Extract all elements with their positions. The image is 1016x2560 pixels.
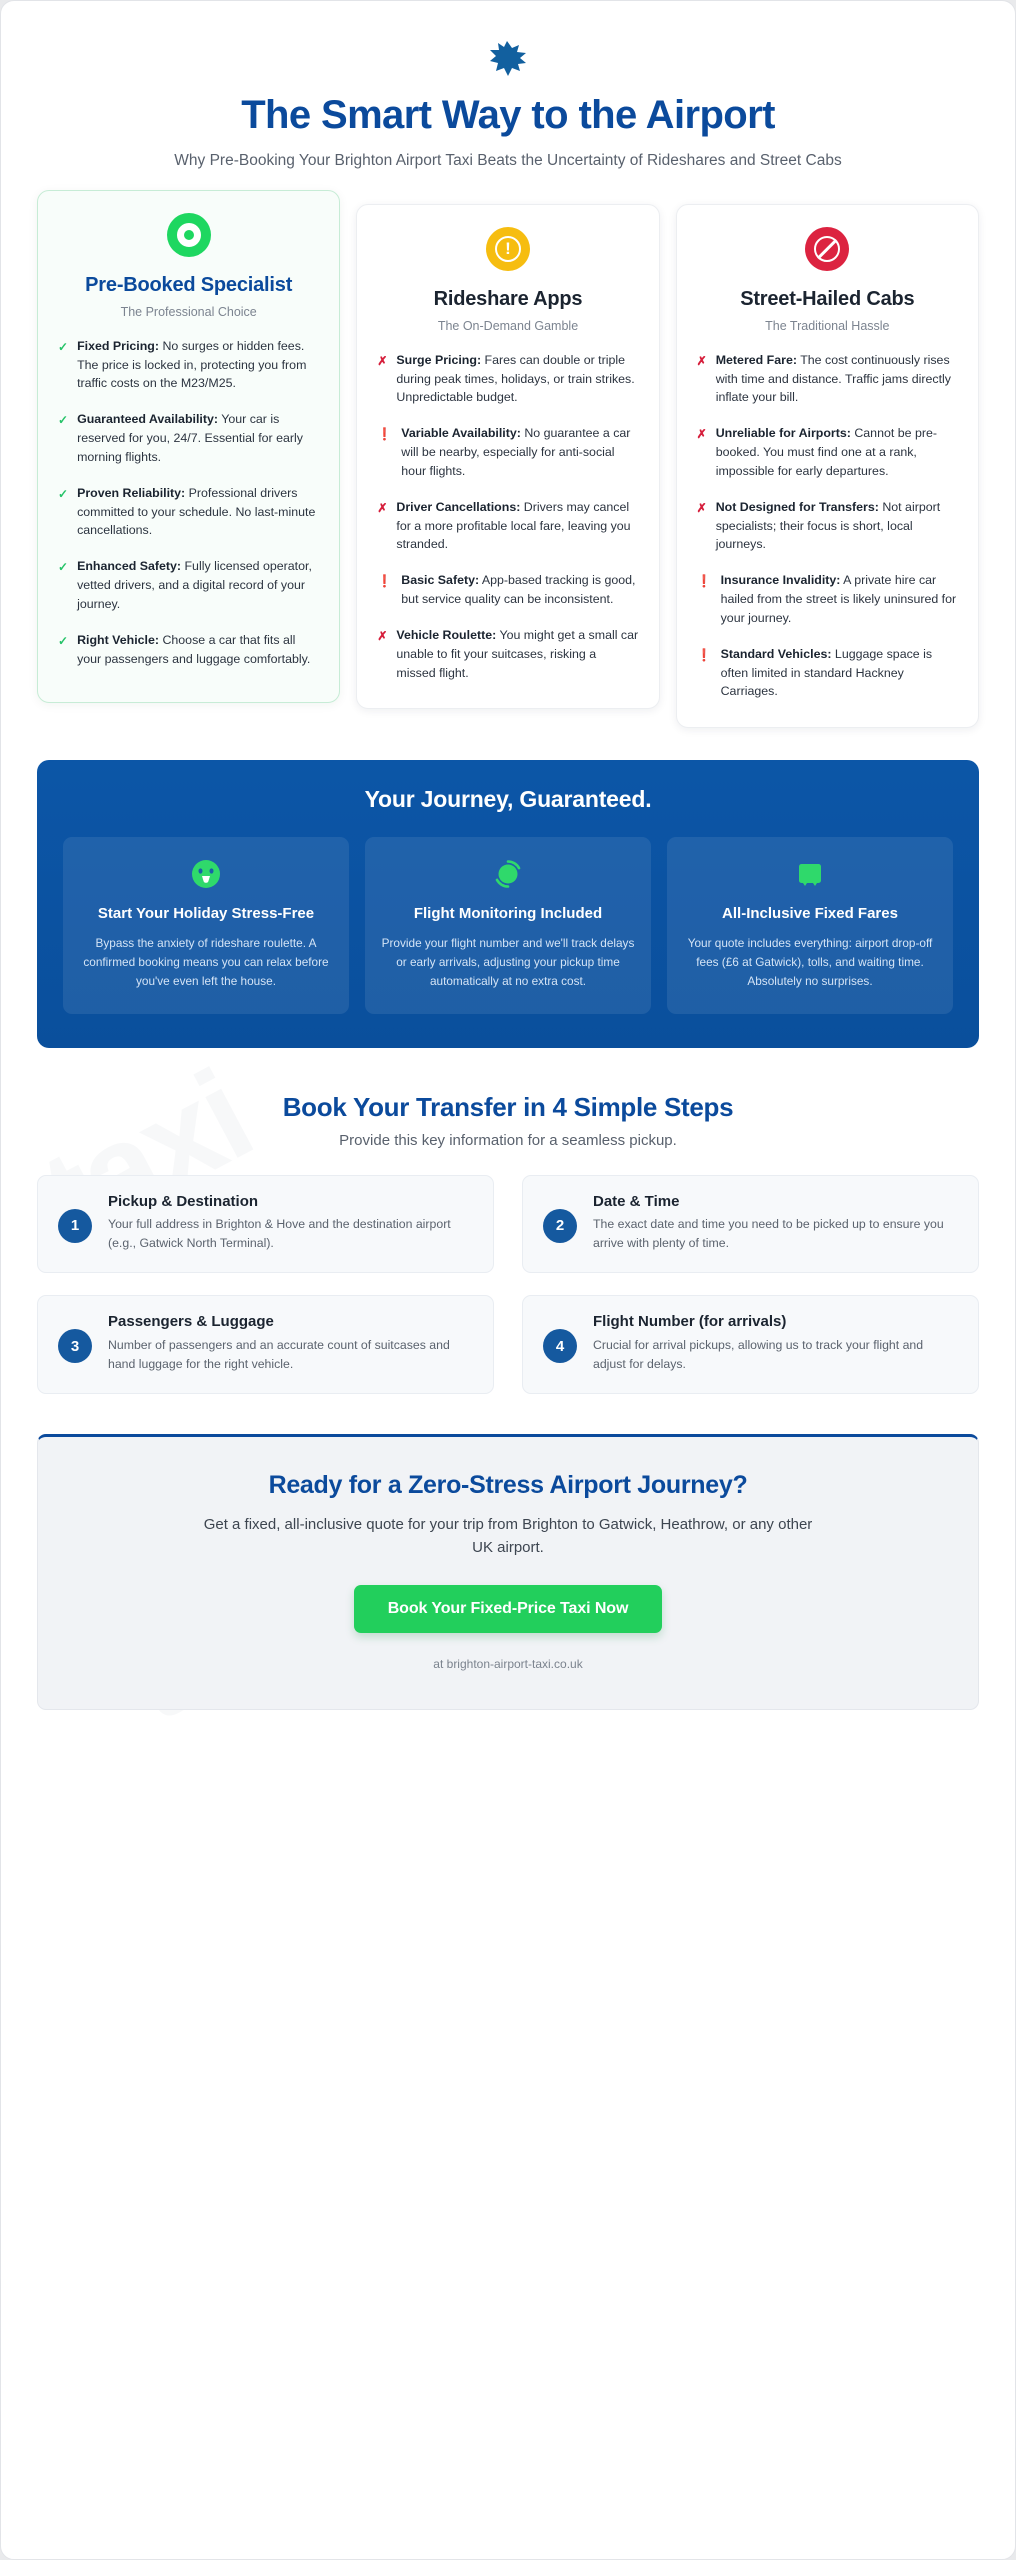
card-title: Pre-Booked Specialist — [58, 273, 319, 297]
cta-lead: Get a fixed, all-inclusive quote for you… — [198, 1514, 818, 1559]
warning-icon: ❗ — [377, 424, 392, 481]
step-title: Flight Number (for arrivals) — [593, 1313, 958, 1332]
guarantee-card-body: Your quote includes everything: airport … — [683, 934, 937, 991]
step-number-badge: 3 — [58, 1329, 92, 1363]
guarantee-card-fixed-fares: All-Inclusive Fixed Fares Your quote inc… — [667, 837, 953, 1013]
list-item: ✗Unreliable for Airports: Cannot be pre-… — [697, 424, 958, 481]
point-label: Basic Safety: — [401, 573, 479, 587]
list-item: ✗Metered Fare: The cost continuously ris… — [697, 351, 958, 408]
cross-icon: ✗ — [377, 626, 387, 683]
step-card-3: 3 Passengers & Luggage Number of passeng… — [37, 1295, 494, 1394]
cross-icon: ✗ — [697, 498, 707, 555]
list-item: ❗Standard Vehicles: Luggage space is oft… — [697, 645, 958, 702]
point-list: ✓Fixed Pricing: No surges or hidden fees… — [58, 337, 319, 669]
point-label: Variable Availability: — [401, 426, 521, 440]
cta-panel: Ready for a Zero-Stress Airport Journey?… — [37, 1434, 979, 1710]
list-item: ✓Guaranteed Availability: Your car is re… — [58, 410, 319, 467]
step-title: Passengers & Luggage — [108, 1313, 473, 1332]
wallet-icon — [683, 857, 937, 891]
point-label: Proven Reliability: — [77, 486, 185, 500]
point-label: Right Vehicle: — [77, 633, 159, 647]
step-number-badge: 4 — [543, 1329, 577, 1363]
guarantee-card-body: Bypass the anxiety of rideshare roulette… — [79, 934, 333, 991]
point-label: Driver Cancellations: — [396, 500, 520, 514]
steps-subheading: Provide this key information for a seaml… — [37, 1132, 979, 1149]
list-item: ✗Driver Cancellations: Drivers may cance… — [377, 498, 638, 555]
sync-refresh-icon — [381, 857, 635, 891]
point-label: Insurance Invalidity: — [721, 573, 841, 587]
point-label: Surge Pricing: — [396, 353, 481, 367]
step-body: Your full address in Brighton & Hove and… — [108, 1215, 473, 1253]
warning-icon: ❗ — [377, 571, 392, 609]
guarantee-card-title: All-Inclusive Fixed Fares — [683, 905, 937, 924]
red-no-entry-icon — [805, 227, 849, 271]
step-number-badge: 1 — [58, 1209, 92, 1243]
cross-icon: ✗ — [697, 351, 707, 408]
step-number-badge: 2 — [543, 1209, 577, 1243]
check-icon: ✓ — [58, 410, 68, 467]
guarantee-card-stress-free: Start Your Holiday Stress-Free Bypass th… — [63, 837, 349, 1013]
cta-heading: Ready for a Zero-Stress Airport Journey? — [68, 1471, 948, 1500]
point-label: Fixed Pricing: — [77, 339, 159, 353]
point-label: Not Designed for Transfers: — [716, 500, 879, 514]
comparison-card-rideshare: ! Rideshare Apps The On-Demand Gamble ✗S… — [356, 204, 659, 709]
page-title: The Smart Way to the Airport — [37, 93, 979, 138]
point-label: Enhanced Safety: — [77, 559, 181, 573]
smiley-face-icon — [79, 857, 333, 891]
list-item: ❗Insurance Invalidity: A private hire ca… — [697, 571, 958, 628]
guarantee-heading: Your Journey, Guaranteed. — [63, 786, 953, 813]
card-title: Street-Hailed Cabs — [697, 287, 958, 311]
list-item: ❗Basic Safety: App-based tracking is goo… — [377, 571, 638, 609]
guarantee-card-body: Provide your flight number and we'll tra… — [381, 934, 635, 991]
step-card-4: 4 Flight Number (for arrivals) Crucial f… — [522, 1295, 979, 1394]
comparison-card-prebooked: Pre-Booked Specialist The Professional C… — [37, 190, 340, 703]
step-body: Number of passengers and an accurate cou… — [108, 1336, 473, 1374]
point-label: Metered Fare: — [716, 353, 797, 367]
comparison-grid: Pre-Booked Specialist The Professional C… — [37, 204, 979, 728]
comparison-card-street-hailed: Street-Hailed Cabs The Traditional Hassl… — [676, 204, 979, 728]
check-icon: ✓ — [58, 631, 68, 669]
guarantee-card-flight-monitoring: Flight Monitoring Included Provide your … — [365, 837, 651, 1013]
yellow-exclamation-icon: ! — [486, 227, 530, 271]
step-title: Date & Time — [593, 1193, 958, 1212]
guarantee-card-grid: Start Your Holiday Stress-Free Bypass th… — [63, 837, 953, 1013]
list-item: ✓Right Vehicle: Choose a car that fits a… — [58, 631, 319, 669]
list-item: ✗Vehicle Roulette: You might get a small… — [377, 626, 638, 683]
point-label: Unreliable for Airports: — [716, 426, 851, 440]
card-tagline: The Professional Choice — [58, 305, 319, 319]
cross-icon: ✗ — [697, 424, 707, 481]
step-body: Crucial for arrival pickups, allowing us… — [593, 1336, 958, 1374]
card-tagline: The Traditional Hassle — [697, 319, 958, 333]
hero-header: The Smart Way to the Airport Why Pre-Boo… — [37, 31, 979, 178]
cross-icon: ✗ — [377, 498, 387, 555]
airplane-mark-icon — [486, 39, 530, 79]
warning-icon: ❗ — [697, 571, 712, 628]
check-icon: ✓ — [58, 484, 68, 541]
list-item: ✓Fixed Pricing: No surges or hidden fees… — [58, 337, 319, 394]
page-subtitle: Why Pre-Booking Your Brighton Airport Ta… — [158, 150, 858, 172]
point-list: ✗Metered Fare: The cost continuously ris… — [697, 351, 958, 702]
card-tagline: The On-Demand Gamble — [377, 319, 638, 333]
point-list: ✗Surge Pricing: Fares can double or trip… — [377, 351, 638, 683]
list-item: ✗Not Designed for Transfers: Not airport… — [697, 498, 958, 555]
point-label: Guaranteed Availability: — [77, 412, 218, 426]
guarantee-panel: Your Journey, Guaranteed. Start Your Hol… — [37, 760, 979, 1047]
guarantee-card-title: Start Your Holiday Stress-Free — [79, 905, 333, 924]
check-icon: ✓ — [58, 337, 68, 394]
step-card-1: 1 Pickup & Destination Your full address… — [37, 1175, 494, 1274]
step-body: The exact date and time you need to be p… — [593, 1215, 958, 1253]
guarantee-card-title: Flight Monitoring Included — [381, 905, 635, 924]
list-item: ❗Variable Availability: No guarantee a c… — [377, 424, 638, 481]
steps-grid: 1 Pickup & Destination Your full address… — [37, 1175, 979, 1395]
step-title: Pickup & Destination — [108, 1193, 473, 1212]
list-item: ✓Enhanced Safety: Fully licensed operato… — [58, 557, 319, 614]
card-title: Rideshare Apps — [377, 287, 638, 311]
steps-header: Book Your Transfer in 4 Simple Steps Pro… — [37, 1092, 979, 1149]
step-card-2: 2 Date & Time The exact date and time yo… — [522, 1175, 979, 1274]
list-item: ✓Proven Reliability: Professional driver… — [58, 484, 319, 541]
green-check-ring-icon — [167, 213, 211, 257]
infographic-page: taxi taxi The Smart Way to the Airport W… — [0, 0, 1016, 2560]
steps-heading: Book Your Transfer in 4 Simple Steps — [37, 1092, 979, 1123]
point-label: Standard Vehicles: — [721, 647, 832, 661]
list-item: ✗Surge Pricing: Fares can double or trip… — [377, 351, 638, 408]
check-icon: ✓ — [58, 557, 68, 614]
book-taxi-button[interactable]: Book Your Fixed-Price Taxi Now — [354, 1585, 663, 1633]
warning-icon: ❗ — [697, 645, 712, 702]
cross-icon: ✗ — [377, 351, 387, 408]
point-label: Vehicle Roulette: — [396, 628, 496, 642]
cta-site-url: at brighton-airport-taxi.co.uk — [68, 1657, 948, 1671]
